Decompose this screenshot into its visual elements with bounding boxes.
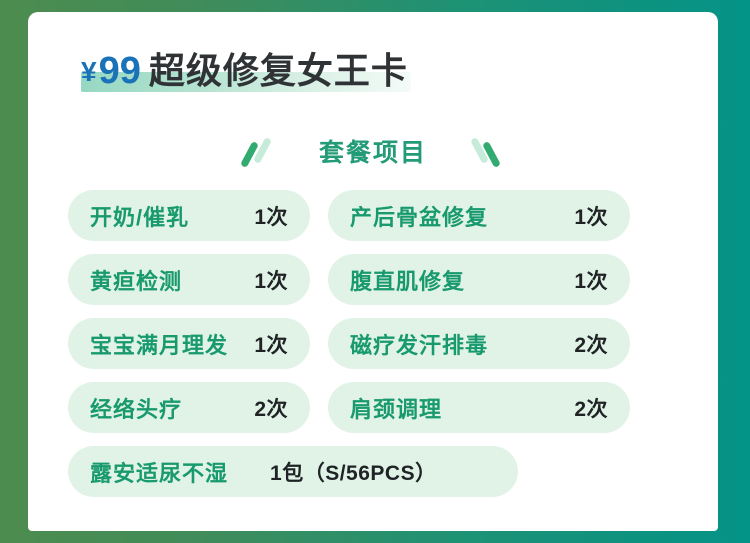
section-header: 套餐项目 [28, 130, 718, 176]
section-title: 套餐项目 [319, 141, 427, 166]
item-name: 露安适尿不湿 [90, 456, 228, 488]
item-quantity: 1次 [254, 265, 288, 295]
item-quantity: 1次 [574, 265, 608, 295]
item-name: 肩颈调理 [350, 392, 442, 424]
item-quantity: 2次 [254, 393, 288, 423]
item-name: 腹直肌修复 [350, 264, 465, 296]
item-name: 产后骨盆修复 [350, 200, 488, 232]
item-quantity: 2次 [574, 393, 608, 423]
double-slash-right-icon [471, 136, 505, 170]
list-item[interactable]: 黄疸检测 1次 [68, 254, 310, 305]
yen-symbol: ¥ [81, 56, 97, 87]
double-slash-left-icon [241, 136, 275, 170]
list-item[interactable]: 露安适尿不湿 1包（S/56PCS） [68, 446, 518, 497]
item-quantity: 1包（S/56PCS） [270, 457, 437, 487]
title-text-line: ¥99超级修复女王卡 [81, 52, 408, 92]
card-title: ¥99超级修复女王卡 [81, 40, 408, 92]
package-item-list: 开奶/催乳 1次 产后骨盆修复 1次 黄疸检测 1次 腹直肌修复 1次 [68, 190, 702, 510]
item-quantity: 1次 [254, 201, 288, 231]
item-row: 黄疸检测 1次 腹直肌修复 1次 [68, 254, 702, 305]
item-row: 经络头疗 2次 肩颈调理 2次 [68, 382, 702, 433]
item-quantity: 1次 [574, 201, 608, 231]
promo-card: ¥99超级修复女王卡 套餐项目 开奶/催乳 1次 产 [28, 12, 718, 531]
page-backdrop: ¥99超级修复女王卡 套餐项目 开奶/催乳 1次 产 [0, 0, 750, 543]
item-name: 宝宝满月理发 [90, 328, 228, 360]
item-name: 磁疗发汗排毒 [350, 328, 488, 360]
item-row: 开奶/催乳 1次 产后骨盆修复 1次 [68, 190, 702, 241]
item-name: 经络头疗 [90, 392, 182, 424]
item-row-wide: 露安适尿不湿 1包（S/56PCS） [68, 446, 702, 497]
item-name: 开奶/催乳 [90, 200, 189, 232]
list-item[interactable]: 经络头疗 2次 [68, 382, 310, 433]
item-name: 黄疸检测 [90, 264, 182, 296]
list-item[interactable]: 开奶/催乳 1次 [68, 190, 310, 241]
list-item[interactable]: 腹直肌修复 1次 [328, 254, 630, 305]
item-row: 宝宝满月理发 1次 磁疗发汗排毒 2次 [68, 318, 702, 369]
price-value: ¥99 [81, 50, 141, 92]
card-title-name: 超级修复女王卡 [149, 50, 408, 91]
item-quantity: 1次 [254, 329, 288, 359]
list-item[interactable]: 肩颈调理 2次 [328, 382, 630, 433]
slash-light-icon [253, 137, 272, 164]
price-number: 99 [99, 50, 141, 92]
item-quantity: 2次 [574, 329, 608, 359]
list-item[interactable]: 宝宝满月理发 1次 [68, 318, 310, 369]
list-item[interactable]: 磁疗发汗排毒 2次 [328, 318, 630, 369]
list-item[interactable]: 产后骨盆修复 1次 [328, 190, 630, 241]
